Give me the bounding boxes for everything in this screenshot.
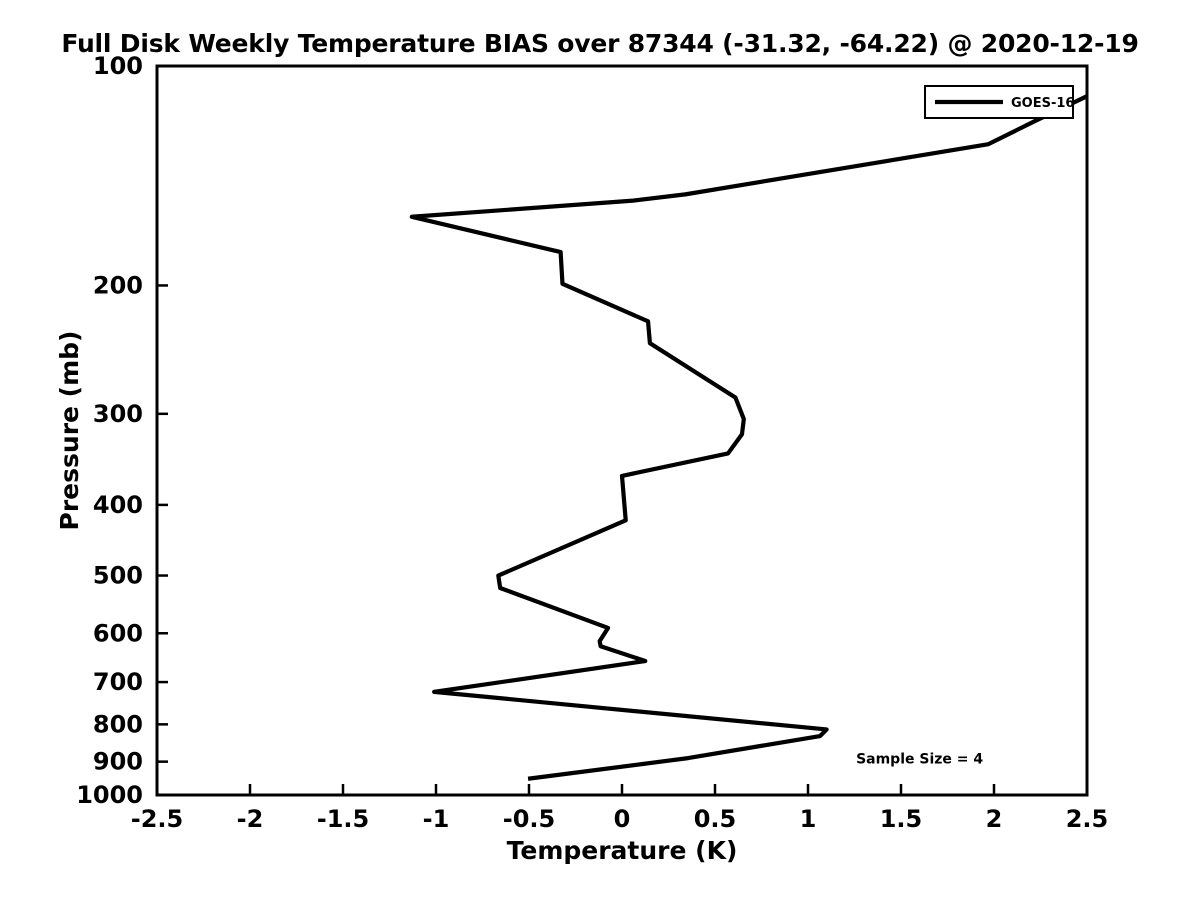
x-tick-label: -2	[237, 805, 264, 833]
x-tick-label: 0	[614, 805, 631, 833]
x-axis-tick-group	[157, 784, 1087, 795]
x-tick-label: 1	[800, 805, 817, 833]
x-tick-label: -1.5	[317, 805, 369, 833]
y-axis-tick-labels: 1002003004005006007008009001000	[76, 52, 143, 809]
x-tick-label: 2	[986, 805, 1003, 833]
y-tick-label: 400	[93, 491, 143, 519]
x-tick-label: -0.5	[503, 805, 555, 833]
y-axis-title: Pressure (mb)	[55, 331, 84, 531]
y-tick-label: 800	[93, 710, 143, 738]
x-tick-label: 1.5	[880, 805, 923, 833]
x-axis-tick-labels: -2.5-2-1.5-1-0.500.511.522.5	[131, 805, 1109, 833]
x-tick-label: -1	[423, 805, 450, 833]
y-axis-tick-group	[157, 66, 168, 795]
x-axis-title: Temperature (K)	[507, 836, 738, 865]
plot-axis-frame	[157, 66, 1087, 795]
y-tick-label: 300	[93, 400, 143, 428]
chart-legend[interactable]: GOES-16	[925, 86, 1074, 118]
x-tick-label: 0.5	[694, 805, 737, 833]
sample-size-annotation: Sample Size = 4	[856, 751, 983, 767]
y-tick-label: 600	[93, 619, 143, 647]
x-tick-label: -2.5	[131, 805, 183, 833]
data-series-goes-16	[412, 96, 1087, 779]
y-tick-label: 500	[93, 562, 143, 590]
x-tick-label: 2.5	[1066, 805, 1109, 833]
y-tick-label: 100	[93, 52, 143, 80]
temperature-bias-profile-plot: 1002003004005006007008009001000 -2.5-2-1…	[0, 0, 1200, 900]
chart-figure: Full Disk Weekly Temperature BIAS over 8…	[0, 0, 1200, 900]
legend-label-goes-16: GOES-16	[1011, 96, 1074, 111]
y-tick-label: 900	[93, 748, 143, 776]
y-tick-label: 200	[93, 271, 143, 299]
y-tick-label: 700	[93, 668, 143, 696]
